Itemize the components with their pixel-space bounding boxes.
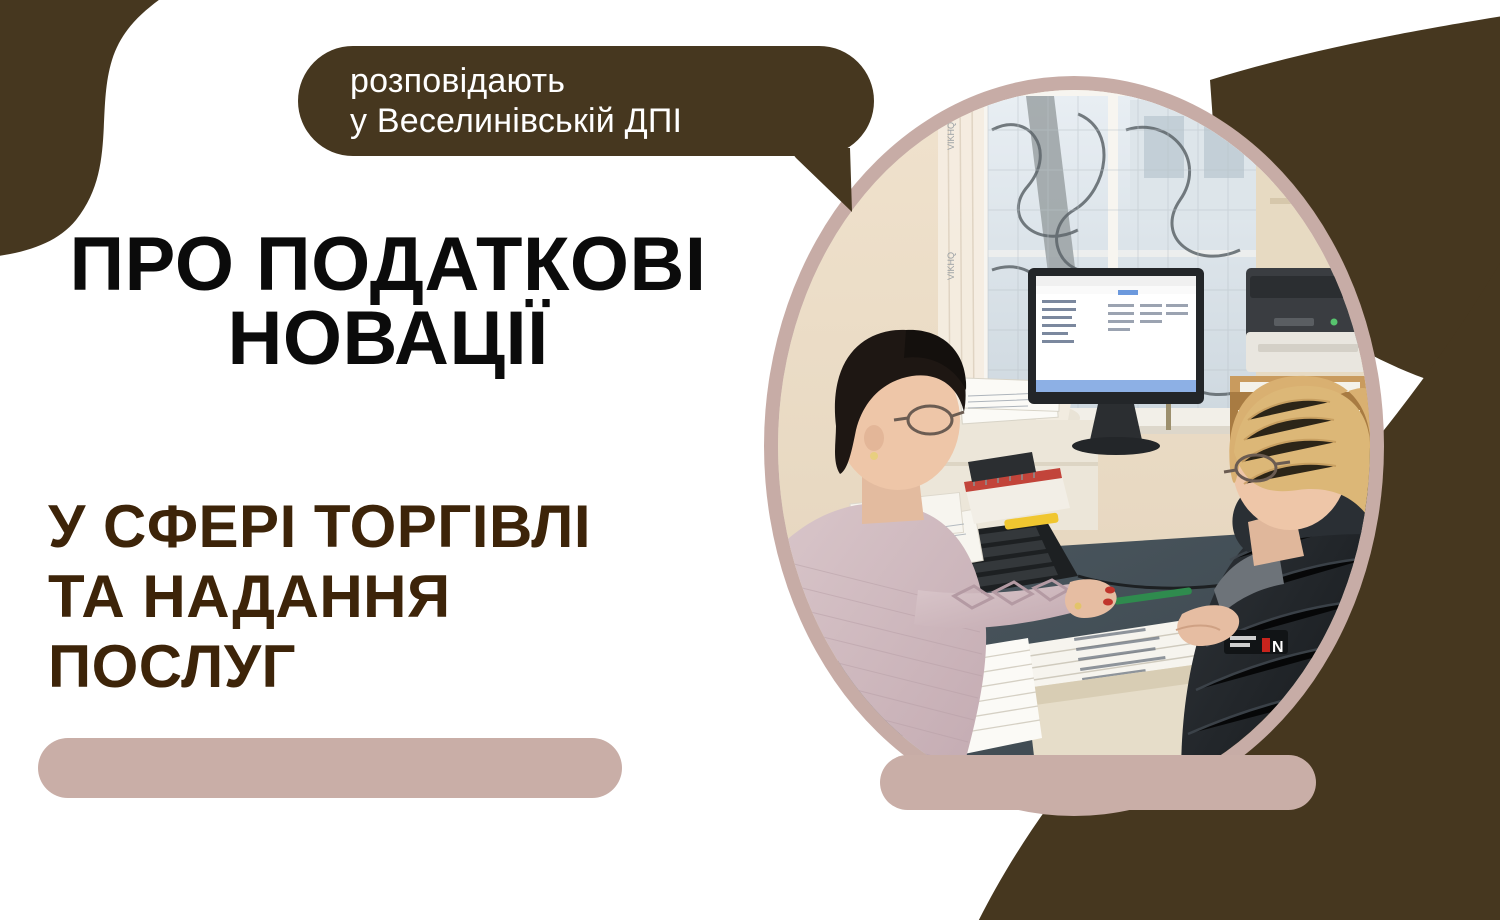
svg-text:VIKHQ: VIKHQ (946, 122, 956, 150)
subheadline-line-3: ПОСЛУГ (48, 632, 748, 702)
svg-text:N: N (1272, 639, 1284, 656)
page-subtitle: У СФЕРІ ТОРГІВЛІ ТА НАДАННЯ ПОСЛУГ (48, 492, 748, 702)
speech-bubble: розповідають у Веселинівській ДПІ (298, 46, 874, 156)
subheadline-line-2: ТА НАДАННЯ (48, 562, 748, 632)
bubble-line-1: розповідають (350, 61, 874, 101)
bubble-line-2: у Веселинівській ДПІ (350, 101, 874, 141)
headline-line-2: НОВАЦІЇ (38, 302, 738, 376)
headline-line-1: ПРО ПОДАТКОВІ (38, 228, 738, 302)
decorative-blob-top-left (0, 0, 310, 260)
subheadline-line-1: У СФЕРІ ТОРГІВЛІ (48, 492, 748, 562)
decorative-pill-right (880, 755, 1316, 810)
page-title: ПРО ПОДАТКОВІ НОВАЦІЇ (38, 228, 738, 376)
decorative-pill-left (38, 738, 622, 798)
svg-text:VIKHQ: VIKHQ (946, 252, 956, 280)
poster-canvas: VIKHQ VIKHQ (0, 0, 1500, 920)
